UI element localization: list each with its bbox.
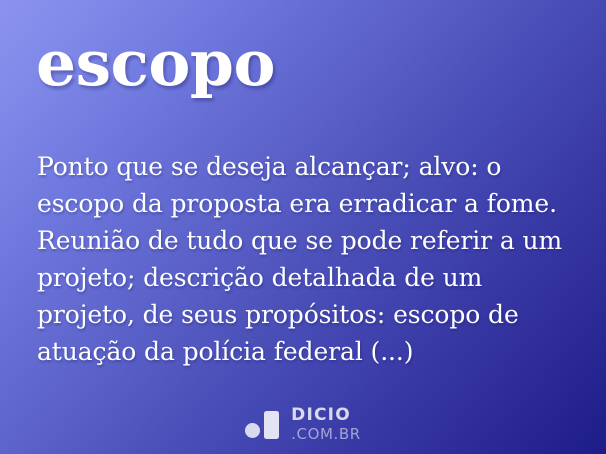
- definition-line: projeto, de seus propósitos: escopo de: [37, 296, 567, 333]
- brand-name: DICIO: [291, 407, 361, 424]
- page-title: escopo: [36, 26, 576, 100]
- brand-tld: .COM.BR: [291, 427, 361, 442]
- brand-wordmark: DICIO .COM.BR: [291, 407, 361, 442]
- dicio-logo-mark-icon: [245, 411, 282, 439]
- brand-logo: DICIO .COM.BR: [0, 407, 606, 442]
- definition-line: Ponto que se deseja alcançar; alvo: o: [37, 148, 567, 185]
- logo-circle-shape: [245, 423, 260, 438]
- definition-line: escopo da proposta era erradicar a fome.: [37, 185, 567, 222]
- definition-line: atuação da polícia federal (...): [37, 333, 567, 370]
- definition-line: projeto; descrição detalhada de um: [37, 259, 567, 296]
- definition-line: Reunião de tudo que se pode referir a um: [37, 222, 567, 259]
- logo-bar-shape: [264, 411, 279, 439]
- dictionary-definition-card: escopo Ponto que se deseja alcançar; alv…: [0, 0, 606, 454]
- definition-text: Ponto que se deseja alcançar; alvo: o es…: [37, 148, 567, 370]
